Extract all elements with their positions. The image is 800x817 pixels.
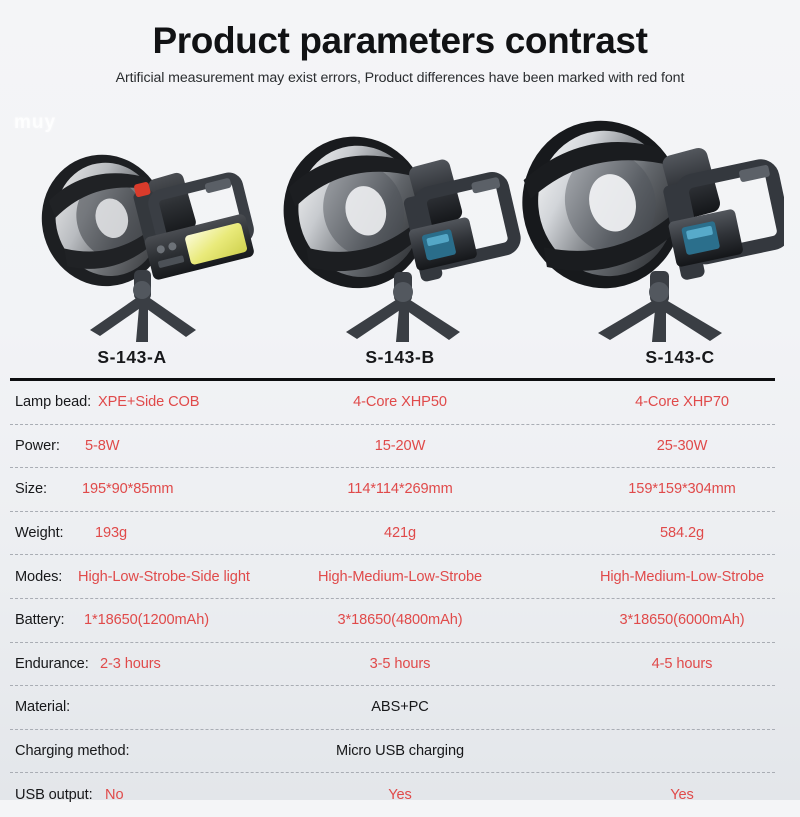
row-value-c: 25-30W xyxy=(657,438,708,454)
product-image-a xyxy=(18,114,268,344)
row-value-c: 4-Core XHP70 xyxy=(635,394,729,410)
product-image-b xyxy=(272,104,522,344)
page-title: Product parameters contrast xyxy=(0,22,800,61)
table-row: Endurance:2-3 hours3-5 hours4-5 hours xyxy=(10,643,775,687)
model-name-b: S-143-B xyxy=(365,347,434,368)
page-subtitle: Artificial measurement may exist errors,… xyxy=(0,70,800,86)
table-row: Battery:1*18650(1200mAh)3*18650(4800mAh)… xyxy=(10,599,775,643)
table-row: Size:195*90*85mm114*114*269mm159*159*304… xyxy=(10,468,775,512)
row-value-c: 4-5 hours xyxy=(652,656,713,672)
spec-comparison-table: Lamp bead:XPE+Side COB4-Core XHP504-Core… xyxy=(10,378,775,817)
row-value-b: High-Medium-Low-Strobe xyxy=(318,569,482,585)
row-value-b: Yes xyxy=(388,787,412,803)
row-value-a: 193g xyxy=(95,525,127,541)
row-label: Power: xyxy=(15,438,60,454)
row-value-c: 584.2g xyxy=(660,525,704,541)
table-row: Charging method:Micro USB charging xyxy=(10,730,775,774)
row-label: Material: xyxy=(15,699,70,715)
row-value-c: 159*159*304mm xyxy=(628,481,735,497)
table-row: Material:ABS+PC xyxy=(10,686,775,730)
row-value-b: 3*18650(4800mAh) xyxy=(338,612,463,628)
row-value-c: Yes xyxy=(670,787,694,803)
row-label: Lamp bead: xyxy=(15,394,91,410)
row-label: Endurance: xyxy=(15,656,89,672)
row-value-shared: Micro USB charging xyxy=(336,743,464,759)
model-name-a: S-143-A xyxy=(97,347,166,368)
row-value-a: XPE+Side COB xyxy=(98,394,199,410)
row-label: Weight: xyxy=(15,525,64,541)
row-value-c: 3*18650(6000mAh) xyxy=(620,612,745,628)
row-value-a: High-Low-Strobe-Side light xyxy=(78,569,250,585)
table-row: Weight:193g421g584.2g xyxy=(10,512,775,556)
row-value-b: 114*114*269mm xyxy=(347,481,452,497)
table-row: USB output:NoYesYes xyxy=(10,773,775,817)
table-row: Power:5-8W15-20W25-30W xyxy=(10,425,775,469)
row-value-b: 3-5 hours xyxy=(370,656,431,672)
row-value-a: 1*18650(1200mAh) xyxy=(84,612,209,628)
row-value-a: No xyxy=(105,787,123,803)
row-label: Battery: xyxy=(15,612,65,628)
row-value-a: 2-3 hours xyxy=(100,656,161,672)
product-image-c xyxy=(516,99,784,344)
table-row: Modes:High-Low-Strobe-Side lightHigh-Med… xyxy=(10,555,775,599)
model-name-c: S-143-C xyxy=(645,347,714,368)
row-value-a: 195*90*85mm xyxy=(82,481,173,497)
page-header: Product parameters contrast Artificial m… xyxy=(0,0,800,86)
row-label: USB output: xyxy=(15,787,93,803)
row-value-c: High-Medium-Low-Strobe xyxy=(600,569,764,585)
table-row: Lamp bead:XPE+Side COB4-Core XHP504-Core… xyxy=(10,381,775,425)
model-name-row: S-143-A S-143-B S-143-C xyxy=(0,347,800,375)
row-value-shared: ABS+PC xyxy=(371,699,428,715)
row-value-a: 5-8W xyxy=(85,438,119,454)
row-label: Size: xyxy=(15,481,47,497)
row-label: Charging method: xyxy=(15,743,129,759)
row-value-b: 421g xyxy=(384,525,416,541)
row-value-b: 15-20W xyxy=(375,438,426,454)
row-value-b: 4-Core XHP50 xyxy=(353,394,447,410)
row-label: Modes: xyxy=(15,569,62,585)
product-image-strip xyxy=(0,104,800,344)
